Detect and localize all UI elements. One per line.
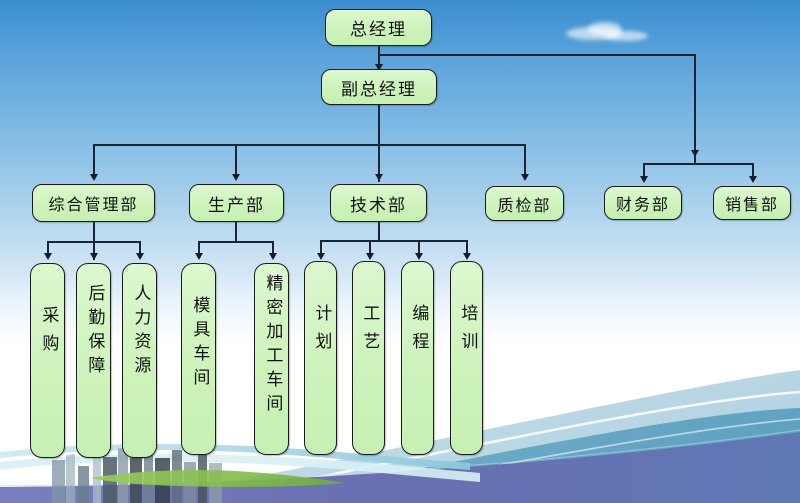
connector-bus-admin-children [47,241,140,243]
org-node-human-resources[interactable]: 人力资源 [122,263,157,458]
org-node-production-dept[interactable]: 生产部 [189,184,284,222]
cloud-icon [604,31,648,41]
connector-right-branch-drop [694,54,696,163]
org-node-label: 生产部 [208,191,265,216]
connector-bus-prod-children [198,241,274,243]
org-node-label: 后勤保障 [85,284,103,380]
arrowhead-icon [90,174,98,181]
arrowhead-icon [463,253,471,260]
arrowhead-icon [521,174,529,181]
arrowhead-icon [136,253,144,260]
org-node-planning[interactable]: 计划 [304,261,337,455]
connector-prod-drop [235,222,237,242]
org-node-finance-dept[interactable]: 财务部 [604,186,682,220]
org-node-label: 计划 [312,304,330,360]
org-node-label: 综合管理部 [48,191,138,215]
arrowhead-icon [691,150,699,157]
arrowhead-icon [749,176,757,183]
arrowhead-icon [232,174,240,181]
connector-to-qc [524,144,526,177]
org-node-sales-dept[interactable]: 销售部 [713,186,791,220]
org-node-label: 总经理 [350,15,407,40]
connector-to-prod [235,144,237,177]
connector-bus-level3 [93,144,525,146]
org-node-label: 质检部 [497,192,551,216]
connector-tech-drop [378,222,380,242]
org-node-label: 人力资源 [131,284,149,380]
connector-bus-tech-children [320,240,467,242]
arrowhead-icon [640,176,648,183]
arrowhead-icon [366,253,374,260]
org-node-process-engineering[interactable]: 工艺 [352,261,385,455]
org-node-general-administration-dept[interactable]: 综合管理部 [32,184,155,222]
org-node-programming[interactable]: 编程 [401,261,434,455]
org-node-label: 技术部 [350,191,407,216]
arrowhead-icon [415,253,423,260]
org-node-label: 销售部 [725,191,779,215]
arrowhead-icon [375,174,383,181]
org-node-precision-machining-workshop[interactable]: 精密加工车间 [254,263,289,455]
org-node-label: 编程 [409,304,427,360]
org-node-label: 培训 [458,304,476,360]
connector-bus-finance-sales [643,163,754,165]
org-node-general-manager[interactable]: 总经理 [325,9,432,46]
org-node-label: 模具车间 [190,296,208,392]
arrowhead-icon [317,253,325,260]
org-node-label: 工艺 [360,304,378,360]
org-node-label: 采购 [39,306,57,362]
arrowhead-icon [90,253,98,260]
org-node-training[interactable]: 培训 [450,261,483,455]
org-node-logistics-support[interactable]: 后勤保障 [76,263,111,458]
org-node-label: 精密加工车间 [263,274,281,418]
arrowhead-icon [44,253,52,260]
arrowhead-icon [195,253,203,260]
org-node-technology-dept[interactable]: 技术部 [330,184,427,222]
org-chart-slide: 总经理 副总经理 综合管理部 生产部 技术部 质检部 财务部 销售部 采购 后勤… [0,0,800,503]
org-node-mold-workshop[interactable]: 模具车间 [181,263,216,455]
arrowhead-icon [269,253,277,260]
connector-to-admin [93,144,95,177]
org-node-label: 财务部 [616,191,670,215]
org-node-deputy-general-manager[interactable]: 副总经理 [321,69,437,105]
connector-gm-right-branch [378,54,696,56]
org-node-label: 副总经理 [341,75,417,100]
org-node-quality-inspection-dept[interactable]: 质检部 [485,186,564,221]
org-node-purchasing[interactable]: 采购 [30,263,65,458]
